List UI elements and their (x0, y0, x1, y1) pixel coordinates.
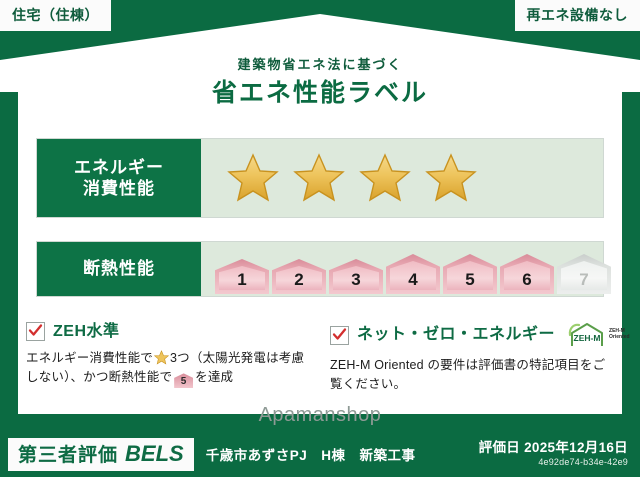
insulation-performance-label: 断熱性能 (37, 242, 201, 296)
zeh-criteria-body: エネルギー消費性能で 3つ（太陽光発電は考慮しない）、かつ断熱性能で5を達成 (26, 349, 308, 388)
zeh-m-caption-line2: Oriented (609, 334, 630, 340)
check-icon (28, 323, 43, 338)
insulation-grade-chip-label: 7 (579, 270, 588, 290)
star-icon (154, 350, 169, 365)
net-zero-energy-title: ネット・ゼロ・エネルギー (357, 327, 555, 343)
insulation-grade-chip-label: 3 (351, 270, 360, 290)
insulation-performance-row: 断熱性能 1 2 3 4 (36, 241, 604, 297)
insulation-grade-chip: 4 (386, 254, 440, 294)
zeh-m-logo: ZEH-M ZEH-M Oriented (568, 322, 630, 348)
insulation-grade-chip: 6 (500, 254, 554, 294)
net-zero-energy-checkbox[interactable] (330, 326, 349, 345)
star-icon (293, 153, 345, 203)
building-type-tag: 住宅（住棟） (0, 0, 111, 31)
zeh-body-part1: エネルギー消費性能で (26, 351, 153, 365)
star-icon (359, 153, 411, 203)
insulation-performance-label-text: 断熱性能 (83, 258, 155, 279)
evaluation-date: 評価日 2025年12月16日 (479, 440, 628, 456)
energy-performance-label: エネルギー 消費性能 (37, 139, 201, 217)
insulation-grade-chip-label: 4 (408, 270, 417, 290)
zeh-m-house-icon: ZEH-M (568, 322, 606, 348)
energy-performance-row: エネルギー 消費性能 (36, 138, 604, 218)
insulation-grade-chip-inactive: 7 (557, 254, 611, 294)
insulation-grade-chip-label: 1 (237, 270, 246, 290)
insulation-grade-scale: 1 2 3 4 5 (215, 254, 611, 296)
insulation-grade-chip: 2 (272, 259, 326, 294)
zeh-criteria-title: ZEH水準 (53, 324, 120, 340)
label-subtitle: 建築物省エネ法に基づく (0, 58, 640, 71)
energy-performance-label-line1: エネルギー (74, 157, 164, 178)
footer-meta: 評価日 2025年12月16日 4e92de74-b34e-42e9 (479, 440, 628, 469)
label-title-block: 建築物省エネ法に基づく 省エネ性能ラベル (0, 58, 640, 106)
insulation-grade-chip: 5 (443, 254, 497, 294)
bels-badge: 第三者評価 BELS (8, 438, 194, 471)
energy-label-card: 住宅（住棟） 再エネ設備なし 建築物省エネ法に基づく 省エネ性能ラベル エネルギ… (0, 0, 640, 477)
net-zero-energy-body: ZEH-M Oriented の要件は評価書の特記項目をご覧ください。 (330, 356, 612, 395)
insulation-grade-chip: 1 (215, 259, 269, 294)
zeh-m-logo-caption: ZEH-M Oriented (609, 329, 630, 341)
insulation-grade-chip: 3 (329, 259, 383, 294)
star-rating (227, 153, 477, 203)
bels-badge-en-label: BELS (125, 443, 184, 465)
zeh-body-part3: を達成 (195, 370, 233, 384)
building-name: 千歳市あずさPJ H棟 新築工事 (206, 444, 416, 464)
check-icon (332, 327, 347, 342)
energy-performance-label-line2: 消費性能 (83, 178, 155, 199)
star-icon (227, 153, 279, 203)
evaluation-id: 4e92de74-b34e-42e9 (479, 456, 628, 469)
insulation-grade-chip-label: 5 (465, 270, 474, 290)
insulation-grade-chip-label: 2 (294, 270, 303, 290)
zeh-inline-grade-label: 5 (181, 376, 187, 387)
zeh-criteria-header: ZEH水準 (26, 322, 308, 341)
bels-badge-jp-label: 第三者評価 (18, 446, 118, 465)
energy-performance-value (201, 139, 603, 217)
zeh-inline-grade-chip: 5 (174, 373, 193, 388)
label-title: 省エネ性能ラベル (0, 81, 640, 106)
svg-text:ZEH-M: ZEH-M (574, 333, 601, 343)
net-zero-energy-criteria-block: ネット・ゼロ・エネルギー ZEH-M ZEH-M Oriented ZEH-M … (330, 322, 612, 395)
star-icon (425, 153, 477, 203)
zeh-criteria-block: ZEH水準 エネルギー消費性能で 3つ（太陽光発電は考慮しない）、かつ断熱性能で… (26, 322, 308, 388)
net-zero-energy-header: ネット・ゼロ・エネルギー ZEH-M ZEH-M Oriented (330, 322, 612, 348)
footer-bar: 第三者評価 BELS 千歳市あずさPJ H棟 新築工事 評価日 2025年12月… (0, 431, 640, 477)
insulation-grade-chip-label: 6 (522, 270, 531, 290)
renewable-equipment-tag: 再エネ設備なし (515, 0, 640, 31)
zeh-checkbox[interactable] (26, 322, 45, 341)
insulation-performance-value: 1 2 3 4 5 (201, 242, 611, 296)
